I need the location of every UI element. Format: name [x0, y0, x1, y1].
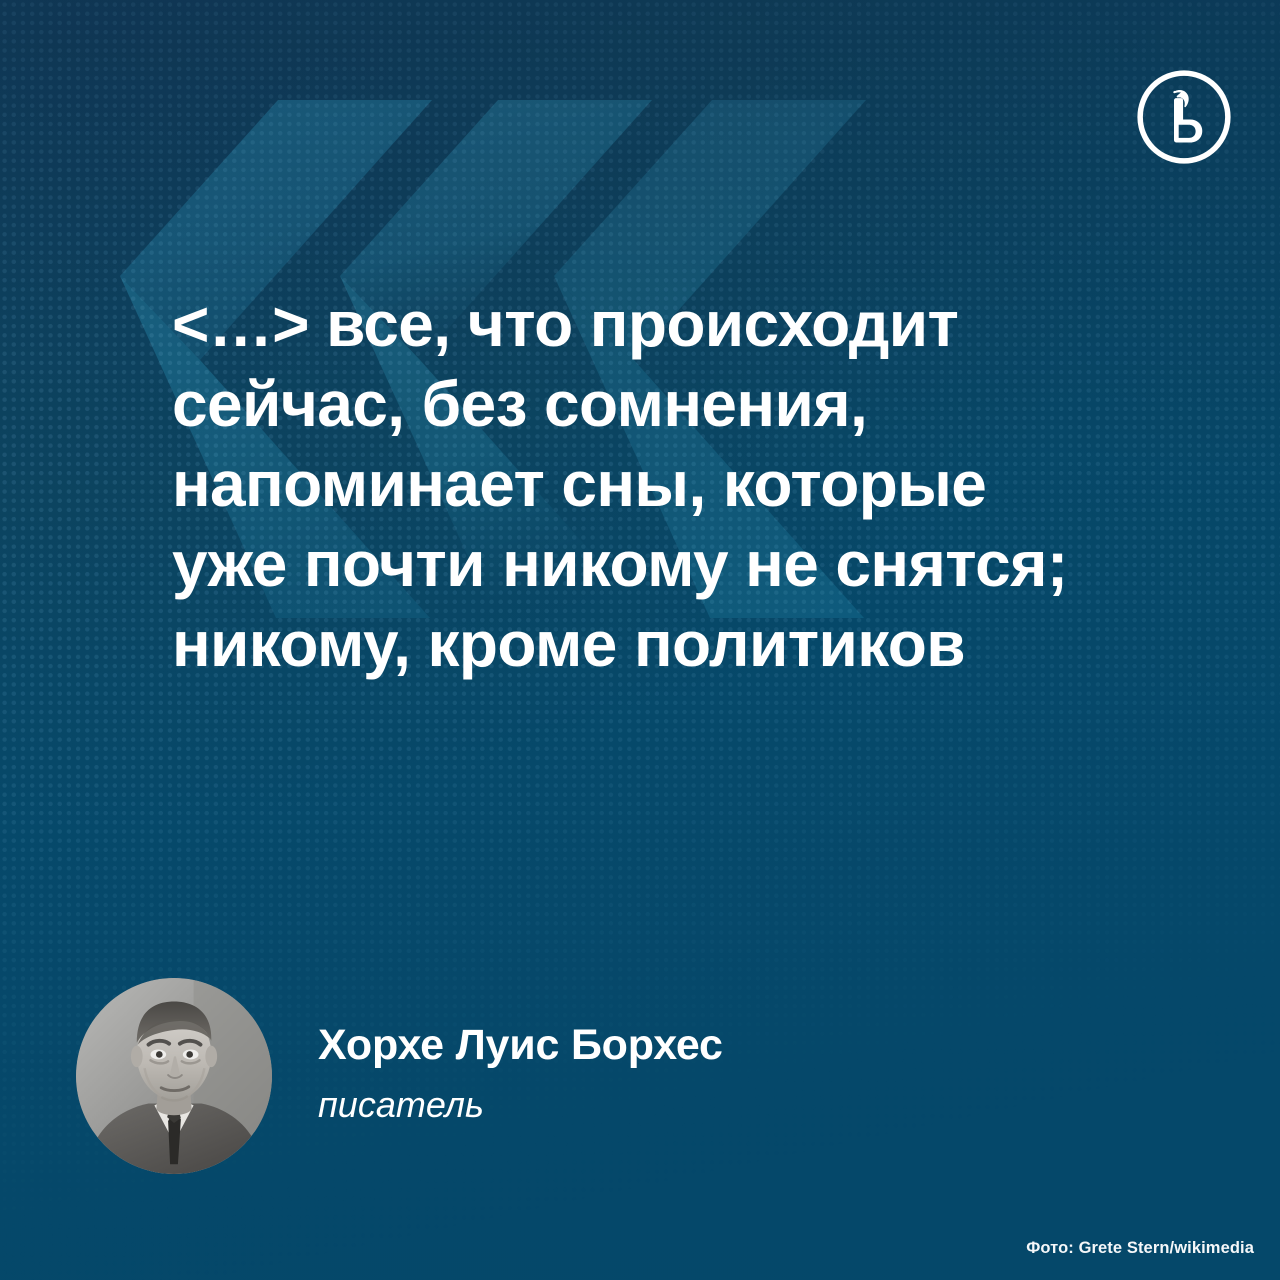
author-block: Хорхе Луис Борхес писатель [76, 978, 723, 1174]
kommersant-logo-icon[interactable] [1133, 66, 1235, 168]
author-text: Хорхе Луис Борхес писатель [318, 1021, 723, 1132]
quote-card: <…> все, что происходит сейчас, без сомн… [0, 0, 1280, 1280]
author-role: писатель [318, 1084, 723, 1125]
author-portrait-avatar [76, 978, 272, 1174]
quote-text: <…> все, что происходит сейчас, без сомн… [172, 284, 1172, 684]
author-name: Хорхе Луис Борхес [318, 1021, 723, 1070]
photo-credit: Фото: Grete Stern/wikimedia [1026, 1239, 1254, 1258]
